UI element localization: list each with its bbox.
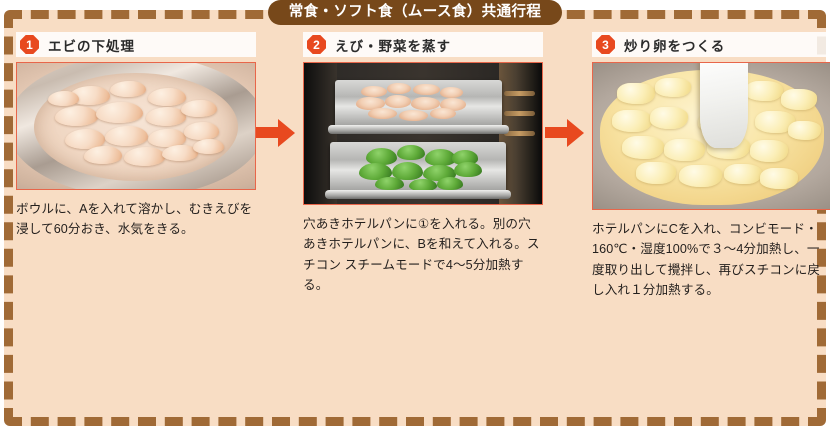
step-3-photo — [592, 62, 830, 210]
arrow-step1-to-step2-icon — [256, 118, 296, 146]
figure-title-pill: 常食・ソフト食（ムース食）共通行程 — [268, 0, 562, 25]
step-3-title: 炒り卵をつくる — [624, 35, 725, 55]
step-column-3: 3 炒り卵をつくる — [592, 32, 830, 301]
step-1-header: 1 エビの下処理 — [16, 32, 256, 57]
step-2-header: 2 えび・野菜を蒸す — [303, 32, 543, 57]
step-1-title: エビの下処理 — [48, 35, 135, 55]
step-3-number-badge: 3 — [596, 35, 615, 54]
step-2-title: えび・野菜を蒸す — [335, 35, 451, 55]
recipe-process-figure: 常食・ソフト食（ムース食）共通行程 1 エビの下処理 — [0, 0, 830, 430]
step-column-2: 2 えび・野菜を蒸す — [303, 32, 543, 296]
figure-title-text: 常食・ソフト食（ムース食）共通行程 — [289, 5, 542, 20]
spatula-icon — [700, 62, 748, 148]
step-1-number-badge: 1 — [20, 35, 39, 54]
step-1-photo — [16, 62, 256, 190]
step-2-photo — [303, 62, 543, 205]
step-1-caption: ボウルに、Aを入れて溶かし、むきえびを浸して60分おき、水気をきる。 — [16, 199, 256, 240]
step-2-caption: 穴あきホテルパンに①を入れる。別の穴あきホテルパンに、Bを和えて入れる。スチコン… — [303, 214, 543, 296]
step-3-caption: ホテルパンにCを入れ、コンビモード・160℃・湿度100%で３〜4分加熱し、一度… — [592, 219, 830, 301]
step-column-1: 1 エビの下処理 — [16, 32, 256, 240]
step-3-header: 3 炒り卵をつくる — [592, 32, 830, 57]
step-2-number-badge: 2 — [307, 35, 326, 54]
arrow-step2-to-step3-icon — [545, 118, 585, 146]
